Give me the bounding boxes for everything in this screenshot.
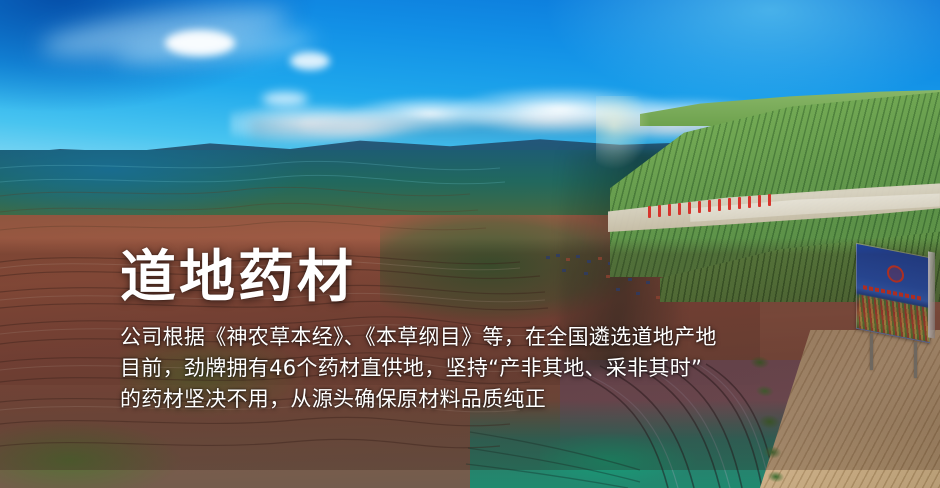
description-line-2: 目前，劲牌拥有46个药材直供地，坚持“产非其地、采非其时” — [120, 353, 880, 384]
banner-copy: 道地药材 公司根据《神农草本经》、《本草纲目》等，在全国遴选道地产地 目前，劲牌… — [120, 248, 880, 415]
cloud-puff-icon — [165, 30, 235, 56]
cloud-puff-icon — [290, 52, 330, 70]
page-title: 道地药材 — [120, 248, 880, 308]
description-line-1: 公司根据《神农草本经》、《本草纲目》等，在全国遴选道地产地 — [120, 322, 880, 353]
red-post-markers — [648, 186, 778, 218]
hero-banner: 道地药材 公司根据《神农草本经》、《本草纲目》等，在全国遴选道地产地 目前，劲牌… — [0, 0, 940, 488]
banner-description: 公司根据《神农草本经》、《本草纲目》等，在全国遴选道地产地 目前，劲牌拥有46个… — [120, 322, 880, 415]
description-line-3: 的药材坚决不用，从源头确保原材料品质纯正 — [120, 384, 880, 415]
